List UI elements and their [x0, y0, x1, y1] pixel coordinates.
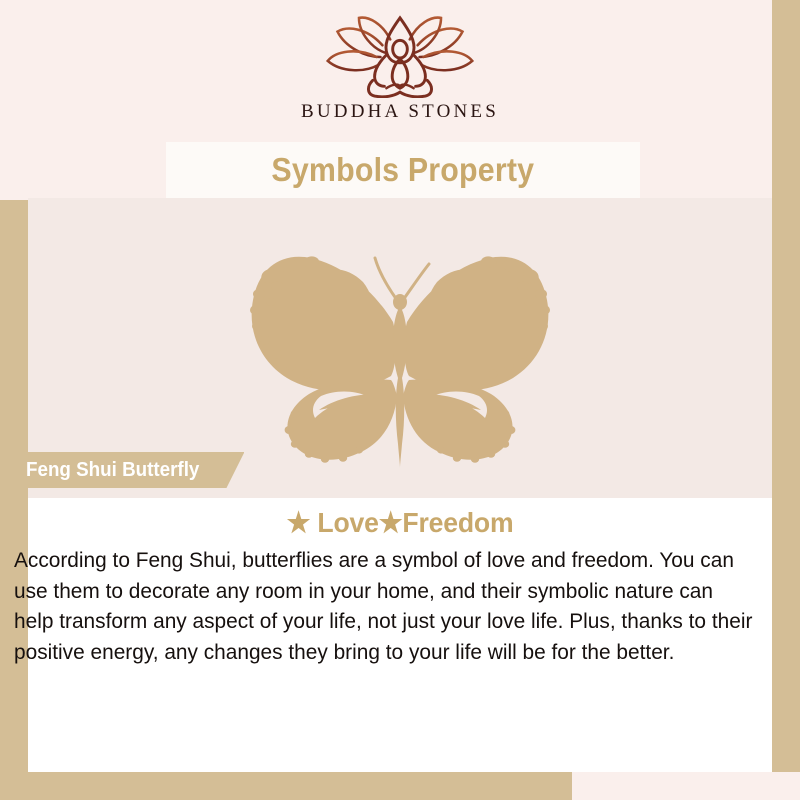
page-title-banner: Symbols Property — [166, 142, 640, 198]
lotus-meditation-figure-icon — [320, 14, 480, 98]
page-title: Symbols Property — [272, 151, 535, 189]
frame-band-right — [772, 0, 800, 800]
tag-label: Feng Shui Butterfly — [26, 459, 199, 482]
description-paragraph: According to Feng Shui, butterflies are … — [14, 545, 759, 667]
monarch-butterfly-icon — [225, 244, 575, 474]
infographic-page: BUDDHA STONES Symbols Property — [0, 0, 800, 800]
description-section: ★ Love★Freedom According to Feng Shui, b… — [28, 498, 772, 772]
frame-band-bottom — [0, 772, 600, 800]
brand-header: BUDDHA STONES — [28, 0, 772, 142]
keywords-subtitle: ★ Love★Freedom — [47, 506, 754, 539]
feng-shui-butterfly-tag: Feng Shui Butterfly — [0, 452, 244, 488]
background-plate-bottom — [572, 772, 800, 800]
brand-name: BUDDHA STONES — [301, 101, 499, 123]
